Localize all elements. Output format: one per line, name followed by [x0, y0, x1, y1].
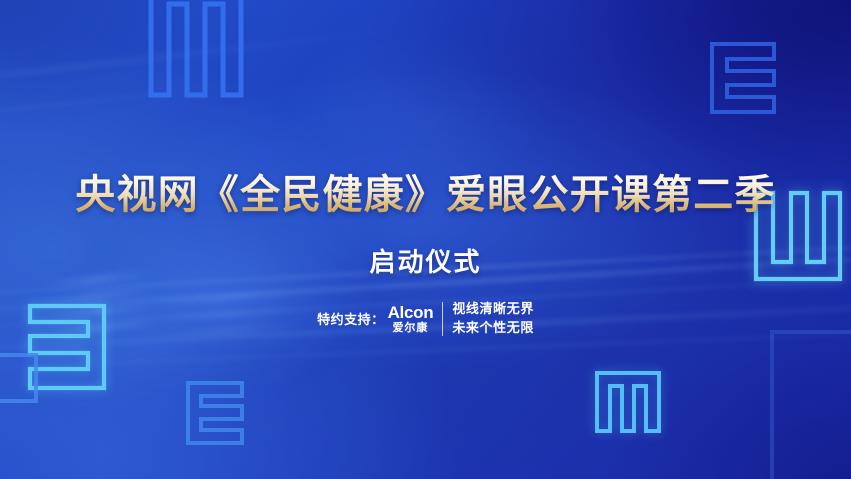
poster-canvas: 央视网《全民健康》爱眼公开课第二季 启动仪式 特约支持： Alcon 爱尔康 视…	[0, 0, 851, 479]
alcon-logo: Alcon 爱尔康	[388, 304, 434, 334]
alcon-wordmark-en: Alcon	[388, 304, 434, 321]
logo-divider	[442, 302, 443, 336]
sponsor-tagline-line-1: 视线清晰无界	[452, 300, 534, 319]
sponsor-tagline-line-2: 未来个性无限	[452, 319, 534, 338]
alcon-wordmark-cn: 爱尔康	[392, 323, 428, 334]
sponsor-bar: 特约支持： Alcon 爱尔康 视线清晰无界 未来个性无限	[0, 300, 851, 338]
sponsor-label: 特约支持：	[317, 309, 385, 328]
page-subtitle: 启动仪式	[0, 242, 851, 279]
sponsor-tagline: 视线清晰无界 未来个性无限	[452, 300, 534, 338]
page-title: 央视网《全民健康》爱眼公开课第二季	[0, 172, 851, 218]
poster-content: 央视网《全民健康》爱眼公开课第二季 启动仪式 特约支持： Alcon 爱尔康 视…	[0, 0, 851, 479]
